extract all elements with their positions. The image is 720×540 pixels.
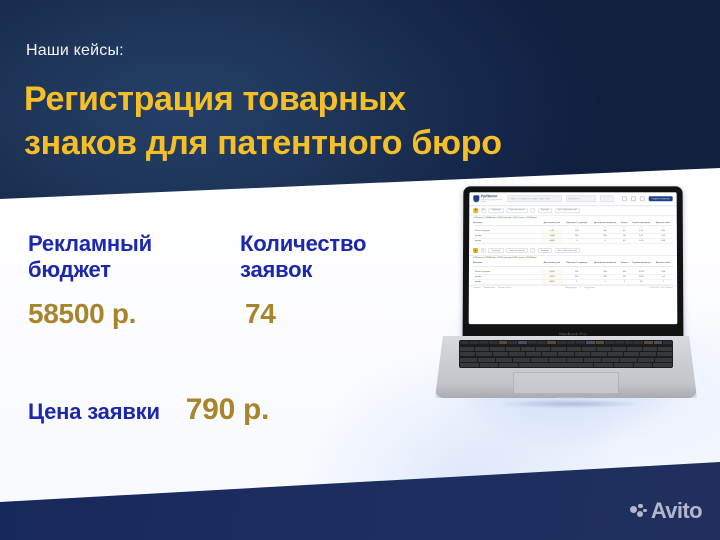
keyboard-row-4 (460, 363, 672, 367)
stat-leads-label-line-2: заявок (240, 257, 312, 282)
stat-budget-value: 58500 р. (28, 299, 228, 330)
table-row[interactable]: google 0,813 1 1 1 52 1 (473, 279, 673, 284)
laptop-model-label: MacBook Pro (463, 331, 684, 336)
stat-cpl-label: Цена заявки (28, 399, 160, 425)
chip-more-icon-2[interactable]: ⋮ (530, 248, 535, 254)
laptop-trackpad (513, 372, 619, 394)
hero-title-line-1: Регистрация товарных (24, 80, 406, 118)
laptop-keyboard (459, 340, 673, 368)
avito-wordmark: Avito (651, 498, 702, 524)
keyboard-row-fn (460, 341, 672, 345)
chip-more-icon[interactable]: ⋮ (531, 208, 536, 214)
stat-budget-label-line-2: бюджет (28, 257, 111, 282)
chip-grid-icon[interactable]: ▦ (473, 208, 478, 214)
laptop-shadow (471, 398, 671, 410)
dashboard-footer: Справка Оформление Экспорт отчёта Предыд… (469, 285, 677, 291)
hero-kicker: Наши кейсы: (26, 42, 124, 60)
toolbar-top: ▦ ☰ Структура Сравнить пункты ⋮ Фильтры … (469, 206, 677, 216)
stat-cpl-value: 790 р. (186, 393, 269, 426)
gear-icon[interactable] (640, 196, 645, 201)
panel-1-title: UTM-метка UTM/Mobile, UTM/Campaign, UTM … (473, 217, 543, 220)
chip-list-icon[interactable]: ☰ (481, 208, 486, 214)
row-name: google (473, 239, 541, 244)
footer-copyright: © 2014-2021 ООО «Яндекс» (648, 287, 673, 289)
footer-link-help[interactable]: Справка (473, 287, 480, 289)
brand-logo[interactable]: РусПатент патентное бюро полного цикла (473, 194, 503, 203)
extra-field[interactable]: … (600, 196, 614, 202)
stat-budget-label: Рекламный бюджет (28, 231, 228, 283)
avito-logo-icon (630, 504, 647, 519)
toolbar-second: ▦ ☰ Структура Сравнить пункты ⋮ Фильтры … (469, 246, 677, 256)
dashboard-screenshot: РусПатент патентное бюро полного цикла н… (469, 192, 678, 324)
chip-compare[interactable]: Сравнить пункты (506, 208, 528, 214)
laptop-base (435, 336, 697, 398)
report-panel-2: UTM-метка UTM/Mobile, UTM/Campaign, UTM … (469, 256, 677, 285)
pager-prev[interactable]: Предыдущая (565, 287, 577, 289)
chip-compare-2[interactable]: Сравнить пункты (506, 248, 528, 254)
chip-date-range[interactable]: Дата: Произвольный (555, 208, 580, 214)
stat-budget: Рекламный бюджет 58500 р. (28, 231, 228, 330)
shield-icon (473, 195, 479, 202)
footer-link-layout[interactable]: Оформление (483, 287, 495, 289)
footer-link-export[interactable]: Экспорт отчёта (498, 287, 511, 289)
stat-budget-label-line-1: Рекламный (28, 231, 152, 256)
help-icon[interactable] (631, 196, 636, 201)
keyboard-row-1 (460, 347, 672, 351)
chip-filters[interactable]: Фильтры (538, 208, 552, 214)
brand-name: РусПатент (481, 194, 503, 198)
keyboard-row-2 (460, 352, 672, 356)
account-field[interactable]: Мой кабинет (566, 196, 597, 202)
pager-next[interactable]: Следующая (584, 287, 595, 289)
create-campaign-button[interactable]: Создать кампанию (649, 197, 673, 201)
keyboard-row-3 (460, 358, 672, 362)
stats-block: Рекламный бюджет 58500 р. Количество зая… (0, 225, 430, 425)
report-panel-1: UTM-метка UTM/Mobile, UTM/Campaign, UTM … (469, 216, 677, 245)
report-table-2: Кампании Достижение цели Просмотр 1 стра… (473, 262, 673, 285)
chip-structure-2[interactable]: Структура (488, 248, 504, 254)
chip-list-icon-2[interactable]: ☰ (481, 248, 486, 254)
dashboard-header: РусПатент патентное бюро полного цикла н… (469, 192, 676, 206)
avito-watermark: Avito (630, 498, 702, 524)
panel-2-title: UTM-метка UTM/Mobile, UTM/Campaign, UTM … (473, 257, 543, 260)
chip-grid-icon-2[interactable]: ▦ (473, 248, 478, 254)
hero-title-line-2: знаков для патентного бюро (24, 122, 664, 166)
bell-icon[interactable] (622, 196, 627, 201)
brand-tagline: патентное бюро полного цикла (481, 199, 503, 203)
chip-filters-2[interactable]: Фильтры (538, 248, 552, 254)
search-input[interactable]: найдите площадку или введите адрес сайта (507, 196, 562, 202)
report-table-1: Кампании Достижение цели Просмотр 1 стра… (473, 222, 673, 245)
laptop-screen: РусПатент патентное бюро полного цикла н… (469, 192, 678, 324)
row-name: google (473, 279, 541, 284)
stat-leads-label-line-1: Количество (240, 231, 366, 256)
poster-canvas: Наши кейсы: Регистрация товарных знаков … (0, 0, 720, 540)
laptop-lid: РусПатент патентное бюро полного цикла н… (463, 186, 684, 338)
table-row[interactable]: google 0,639 3 3 0,0 0,10 4,18 (473, 239, 673, 244)
laptop-mockup: РусПатент патентное бюро полного цикла н… (427, 186, 703, 456)
pager-page[interactable]: 1 (580, 287, 581, 289)
chip-structure[interactable]: Структура (488, 208, 503, 214)
chip-date-range-2[interactable]: Дата: Произвольный (555, 248, 580, 254)
stat-cost-per-lead: Цена заявки 790 р. (28, 393, 269, 426)
hero-title: Регистрация товарных знаков для патентно… (24, 78, 664, 165)
